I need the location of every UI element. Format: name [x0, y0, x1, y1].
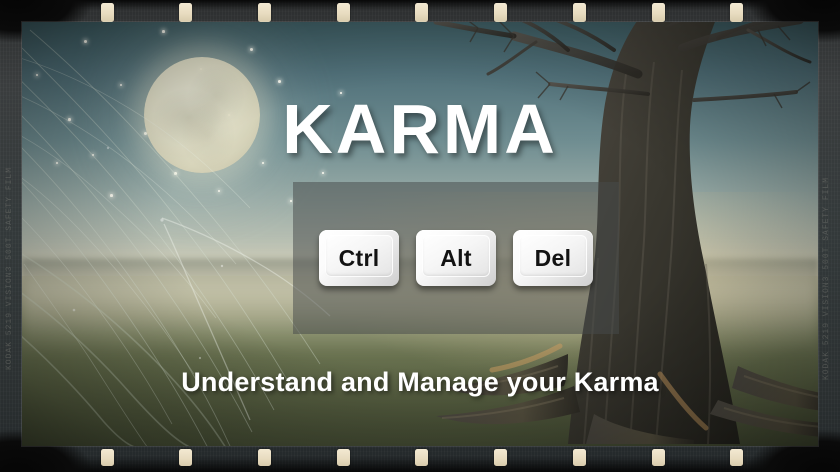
keycap-del[interactable]: Del [513, 230, 593, 286]
keycap-del-label: Del [535, 245, 572, 272]
shortcut-panel: Ctrl Alt Del [293, 182, 619, 334]
poster-stage: KODAK 5219 VISION3 500T SAFETY FILM KODA… [0, 0, 840, 472]
background-photo: KARMA Ctrl Alt Del Understand and Manage… [22, 22, 818, 446]
page-title: KARMA [22, 94, 818, 164]
keycap-ctrl-label: Ctrl [339, 245, 380, 272]
film-edge-marking-right: KODAK 5219 VISION3 500T SAFETY FILM [818, 40, 838, 432]
keycap-ctrl[interactable]: Ctrl [319, 230, 399, 286]
film-top-shade [0, 0, 840, 10]
page-subtitle: Understand and Manage your Karma [22, 367, 818, 398]
film-bottom-shade [0, 456, 840, 472]
film-edge-marking-left: KODAK 5219 VISION3 500T SAFETY FILM [2, 40, 22, 432]
keycap-alt[interactable]: Alt [416, 230, 496, 286]
keycap-alt-label: Alt [440, 245, 472, 272]
